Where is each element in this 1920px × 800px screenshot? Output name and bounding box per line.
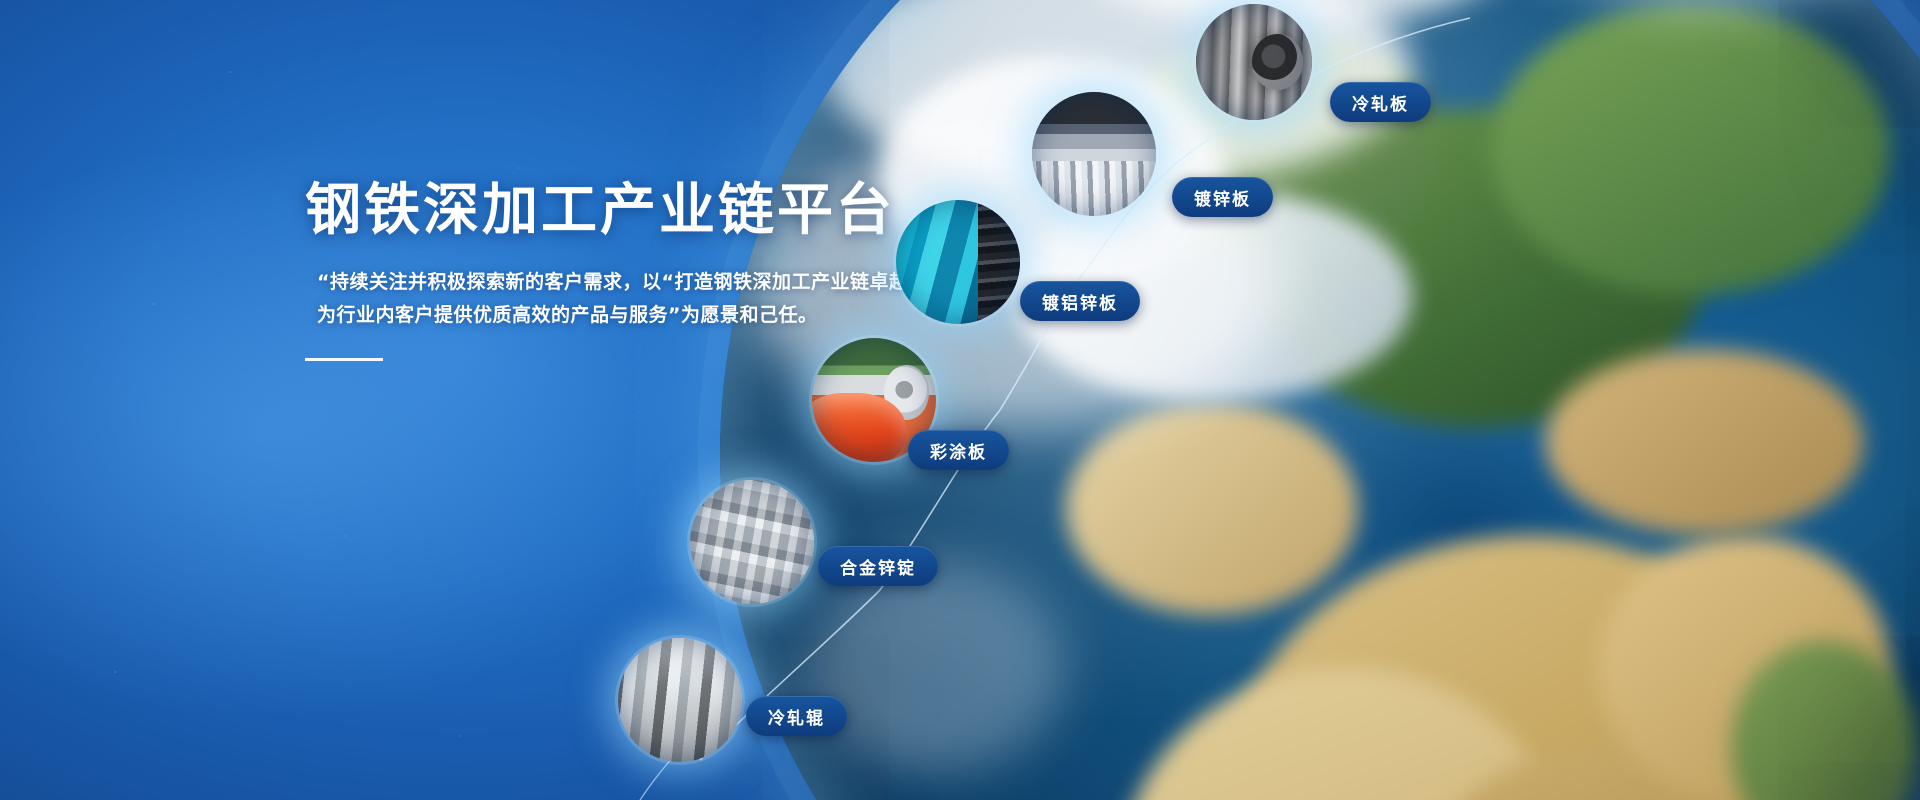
product-label-text: 合金锌锭: [840, 554, 916, 579]
node-vignette: [896, 200, 1020, 324]
product-node-zinc-alloy-ingot[interactable]: [690, 480, 814, 604]
product-label-color-coated-plate[interactable]: 彩涂板: [908, 430, 1009, 470]
product-label-cold-rolled-plate[interactable]: 冷轧板: [1330, 82, 1431, 122]
product-label-galvanized-plate[interactable]: 镀锌板: [1172, 177, 1273, 217]
product-node-aluzinc-plate[interactable]: [896, 200, 1020, 324]
node-vignette: [690, 480, 814, 604]
product-label-text: 镀铝锌板: [1042, 289, 1118, 314]
node-vignette: [1032, 92, 1156, 216]
product-label-text: 镀锌板: [1194, 185, 1251, 210]
product-label-text: 冷轧板: [1352, 90, 1409, 115]
product-label-zinc-alloy-ingot[interactable]: 合金锌锭: [818, 546, 938, 586]
product-node-galvanized-plate[interactable]: [1032, 92, 1156, 216]
product-label-text: 冷轧辊: [768, 704, 825, 729]
node-vignette: [618, 638, 742, 762]
chain-connector-lines: [0, 0, 1920, 800]
product-node-cold-rolled-plate[interactable]: [1196, 4, 1312, 120]
hero-banner: 钢铁深加工产业链平台 “持续关注并积极探索新的客户需求，以“打造钢铁深加工产业链…: [0, 0, 1920, 800]
product-label-aluzinc-plate[interactable]: 镀铝锌板: [1020, 281, 1140, 321]
product-label-cold-roll[interactable]: 冷轧辊: [746, 696, 847, 736]
node-vignette: [1196, 4, 1312, 120]
product-chain: 冷轧板 镀锌板 镀铝锌板 彩涂板: [0, 0, 1920, 800]
product-label-text: 彩涂板: [930, 438, 987, 463]
product-node-cold-roll[interactable]: [618, 638, 742, 762]
